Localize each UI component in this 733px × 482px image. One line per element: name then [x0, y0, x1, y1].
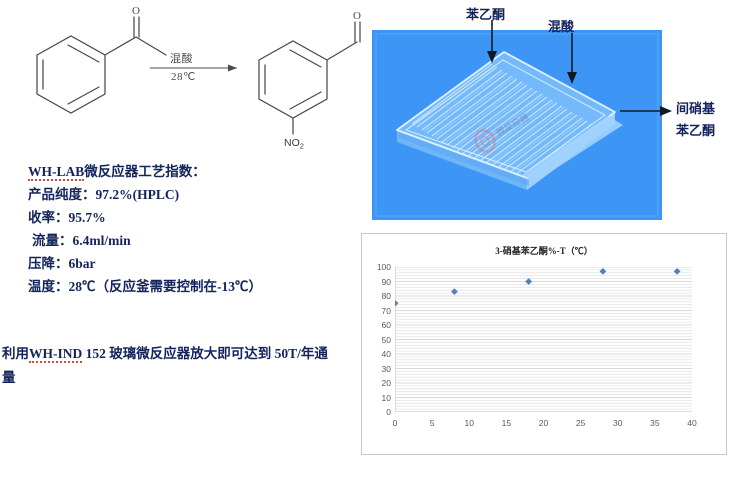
reaction-scheme: O O NO2 混酸 28℃: [0, 0, 366, 165]
chart-plot-area: 01020304050607080901000510152025303540: [395, 267, 692, 412]
scaleup-note-prefix: 利用: [2, 346, 29, 361]
chart-y-tick-label: 40: [382, 349, 391, 359]
chart-y-tick-label: 20: [382, 378, 391, 388]
reactant-carbonyl-o-label: O: [132, 5, 140, 17]
chart-x-tick-label: 30: [613, 418, 622, 428]
label-product-outlet-line2: 苯乙酮: [676, 120, 715, 139]
spec-line-purity: 产品纯度：97.2%(HPLC): [0, 183, 366, 206]
label-acetophenone-inlet: 苯乙酮: [466, 4, 505, 23]
spec-heading-rest: 微反应器工艺指数：: [84, 164, 206, 179]
reaction-arrowhead: [228, 65, 237, 72]
reaction-temperature-label: 28℃: [171, 70, 196, 83]
product-nitro-label: NO2: [284, 137, 304, 151]
chart-x-tick-label: 0: [393, 418, 398, 428]
product-carbonyl-o-label: O: [353, 10, 361, 22]
chart-y-tick-label: 10: [382, 393, 391, 403]
chart-y-tick-label: 60: [382, 320, 391, 330]
scaleup-note: 利用WH-IND 152 玻璃微反应器放大即可达到 50T/年通 量: [0, 342, 366, 390]
microreactor-photo: 微反应器: [372, 30, 662, 220]
conversion-chart: 3-硝基苯乙酮%-T（℃） 01020304050607080901000510…: [361, 233, 727, 455]
chart-x-tick-label: 25: [576, 418, 585, 428]
scaleup-note-body: 152 玻璃微反应器放大即可达到 50T/年通: [82, 346, 328, 361]
label-mixed-acid-inlet: 混酸: [548, 16, 574, 35]
chart-y-tick-label: 70: [382, 306, 391, 316]
spec-line-temperature: 温度：28℃（反应釜需要控制在-13℃）: [0, 275, 366, 298]
spec-line-pressuredrop: 压降：6bar: [0, 252, 366, 275]
chart-x-tick-label: 40: [687, 418, 696, 428]
chart-x-tick-label: 10: [465, 418, 474, 428]
spec-line-flowrate: 流量：6.4ml/min: [0, 229, 366, 252]
chart-y-tick-label: 0: [386, 407, 391, 417]
spec-heading-product-code: WH-LAB: [28, 164, 84, 181]
spec-heading: WH-LAB微反应器工艺指数：: [0, 160, 366, 183]
scaleup-note-tail: 量: [2, 370, 16, 385]
chart-y-tick-label: 80: [382, 291, 391, 301]
spec-text-block: WH-LAB微反应器工艺指数： 产品纯度：97.2%(HPLC) 收率：95.7…: [0, 160, 366, 298]
chart-y-tick-label: 30: [382, 364, 391, 374]
chart-y-tick-label: 50: [382, 335, 391, 345]
chart-title: 3-硝基苯乙酮%-T（℃）: [362, 244, 726, 257]
chart-svg: [395, 267, 692, 412]
chart-x-tick-label: 5: [430, 418, 435, 428]
chart-y-tick-label: 90: [382, 277, 391, 287]
chart-y-tick-label: 100: [377, 262, 391, 272]
chart-x-tick-label: 15: [502, 418, 511, 428]
chart-x-tick-label: 35: [650, 418, 659, 428]
reaction-reagent-label: 混酸: [170, 50, 193, 66]
label-product-outlet-line1: 间硝基: [676, 98, 715, 117]
chart-x-tick-label: 20: [539, 418, 548, 428]
spec-line-yield: 收率：95.7%: [0, 206, 366, 229]
scaleup-note-product-code: WH-IND: [29, 346, 82, 363]
slide-root: O O NO2 混酸 28℃: [0, 0, 733, 482]
microreactor-illustration: 微反应器: [372, 30, 662, 220]
